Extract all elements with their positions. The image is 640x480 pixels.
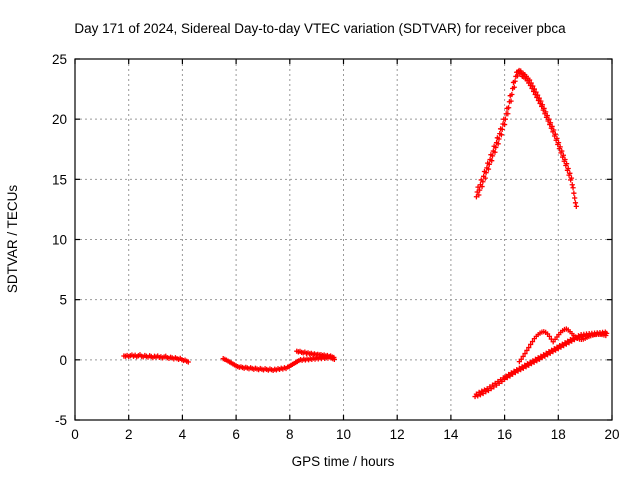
y-tick-label: -5 <box>55 413 67 428</box>
y-tick-label: 15 <box>52 172 67 187</box>
y-tick-label: 5 <box>59 293 67 308</box>
x-tick-label: 6 <box>232 427 240 442</box>
y-tick-label: 20 <box>52 112 67 127</box>
x-tick-label: 14 <box>443 427 459 442</box>
y-axis-label: SDTVAR / TECUs <box>5 185 20 294</box>
y-tick-label: 10 <box>52 233 67 248</box>
chart-figure: Day 171 of 2024, Sidereal Day-to-day VTE… <box>0 0 640 480</box>
x-tick-label: 8 <box>286 427 294 442</box>
x-tick-label: 2 <box>125 427 133 442</box>
x-tick-label: 20 <box>604 427 619 442</box>
x-tick-label: 10 <box>336 427 351 442</box>
x-tick-label: 12 <box>390 427 405 442</box>
sdtvar-scatter-plot: Day 171 of 2024, Sidereal Day-to-day VTE… <box>0 0 640 480</box>
x-tick-label: 0 <box>71 427 79 442</box>
y-tick-label: 0 <box>59 353 67 368</box>
x-tick-label: 4 <box>179 427 187 442</box>
x-axis-label: GPS time / hours <box>292 454 395 469</box>
x-tick-label: 16 <box>497 427 512 442</box>
x-tick-label: 18 <box>551 427 566 442</box>
chart-title: Day 171 of 2024, Sidereal Day-to-day VTE… <box>74 21 566 36</box>
y-tick-label: 25 <box>52 52 67 67</box>
